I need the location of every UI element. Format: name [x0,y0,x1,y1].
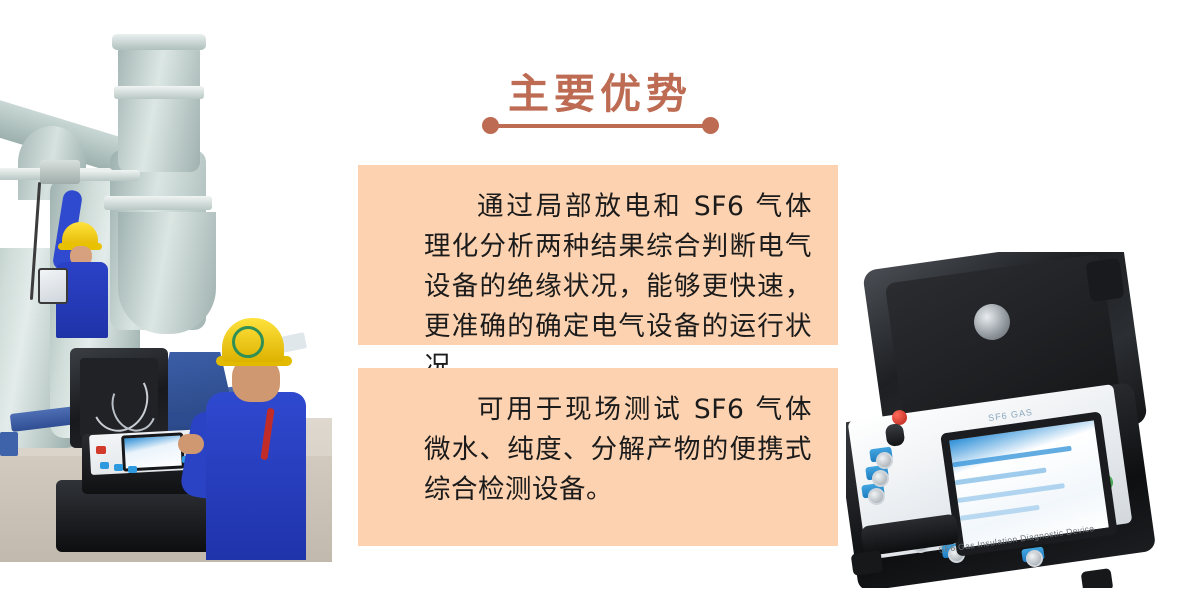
product-case-latch [1085,258,1124,302]
product-photo: POWER SF6 GAS SF6 Gas Insulation Diagnos… [846,252,1198,588]
gis-bushing-bulb [118,212,216,334]
heading-rule-dot-right [702,117,719,134]
section-heading: 主要优势 [430,74,770,144]
gis-column-cap [112,34,206,50]
display-row-2 [955,467,1047,485]
field-inspection-photo [0,0,332,562]
display-row-1 [952,446,1072,468]
gis-column-upper [118,42,200,172]
product-foot-left [851,550,884,576]
gis-flange-band [104,196,212,210]
instrument-port-2 [114,464,123,471]
helmet-logo-icon [232,326,264,358]
instrument-port-3 [128,466,137,473]
advantage-text-2: 可用于现场测试 SF6 气体微水、纯度、分解产物的便携式综合检测设备。 [424,390,812,510]
product-foot-right [1081,568,1114,588]
product-brand-mark: POWER [943,587,957,588]
advantage-text-1: 通过局部放电和 SF6 气体理化分析两种结果综合判断电气设备的绝缘状况，能够更快… [424,187,812,387]
advantage-card-1: 通过局部放电和 SF6 气体理化分析两种结果综合判断电气设备的绝缘状况，能够更快… [358,165,838,345]
gis-column-band [114,86,204,99]
heading-rule [430,116,770,136]
gis-junction-box [40,160,80,184]
worker-front-hand [178,434,204,454]
handheld-tablet [38,268,68,304]
instrument-power-indicator [96,446,106,454]
poster-canvas: 主要优势 通过局部放电和 SF6 气体理化分析两种结果综合判断电气设备的绝缘状况… [0,0,1200,606]
page-title: 主要优势 [430,74,770,115]
display-row-4 [960,505,1040,521]
heading-rule-bar [488,124,712,128]
display-row-3 [957,483,1065,503]
heading-rule-dot-left [482,117,499,134]
instrument-port-1 [100,462,109,469]
worker-front-body [206,392,306,560]
blue-fixture [0,432,18,456]
advantage-card-2: 可用于现场测试 SF6 气体微水、纯度、分解产物的便携式综合检测设备。 [358,368,838,546]
